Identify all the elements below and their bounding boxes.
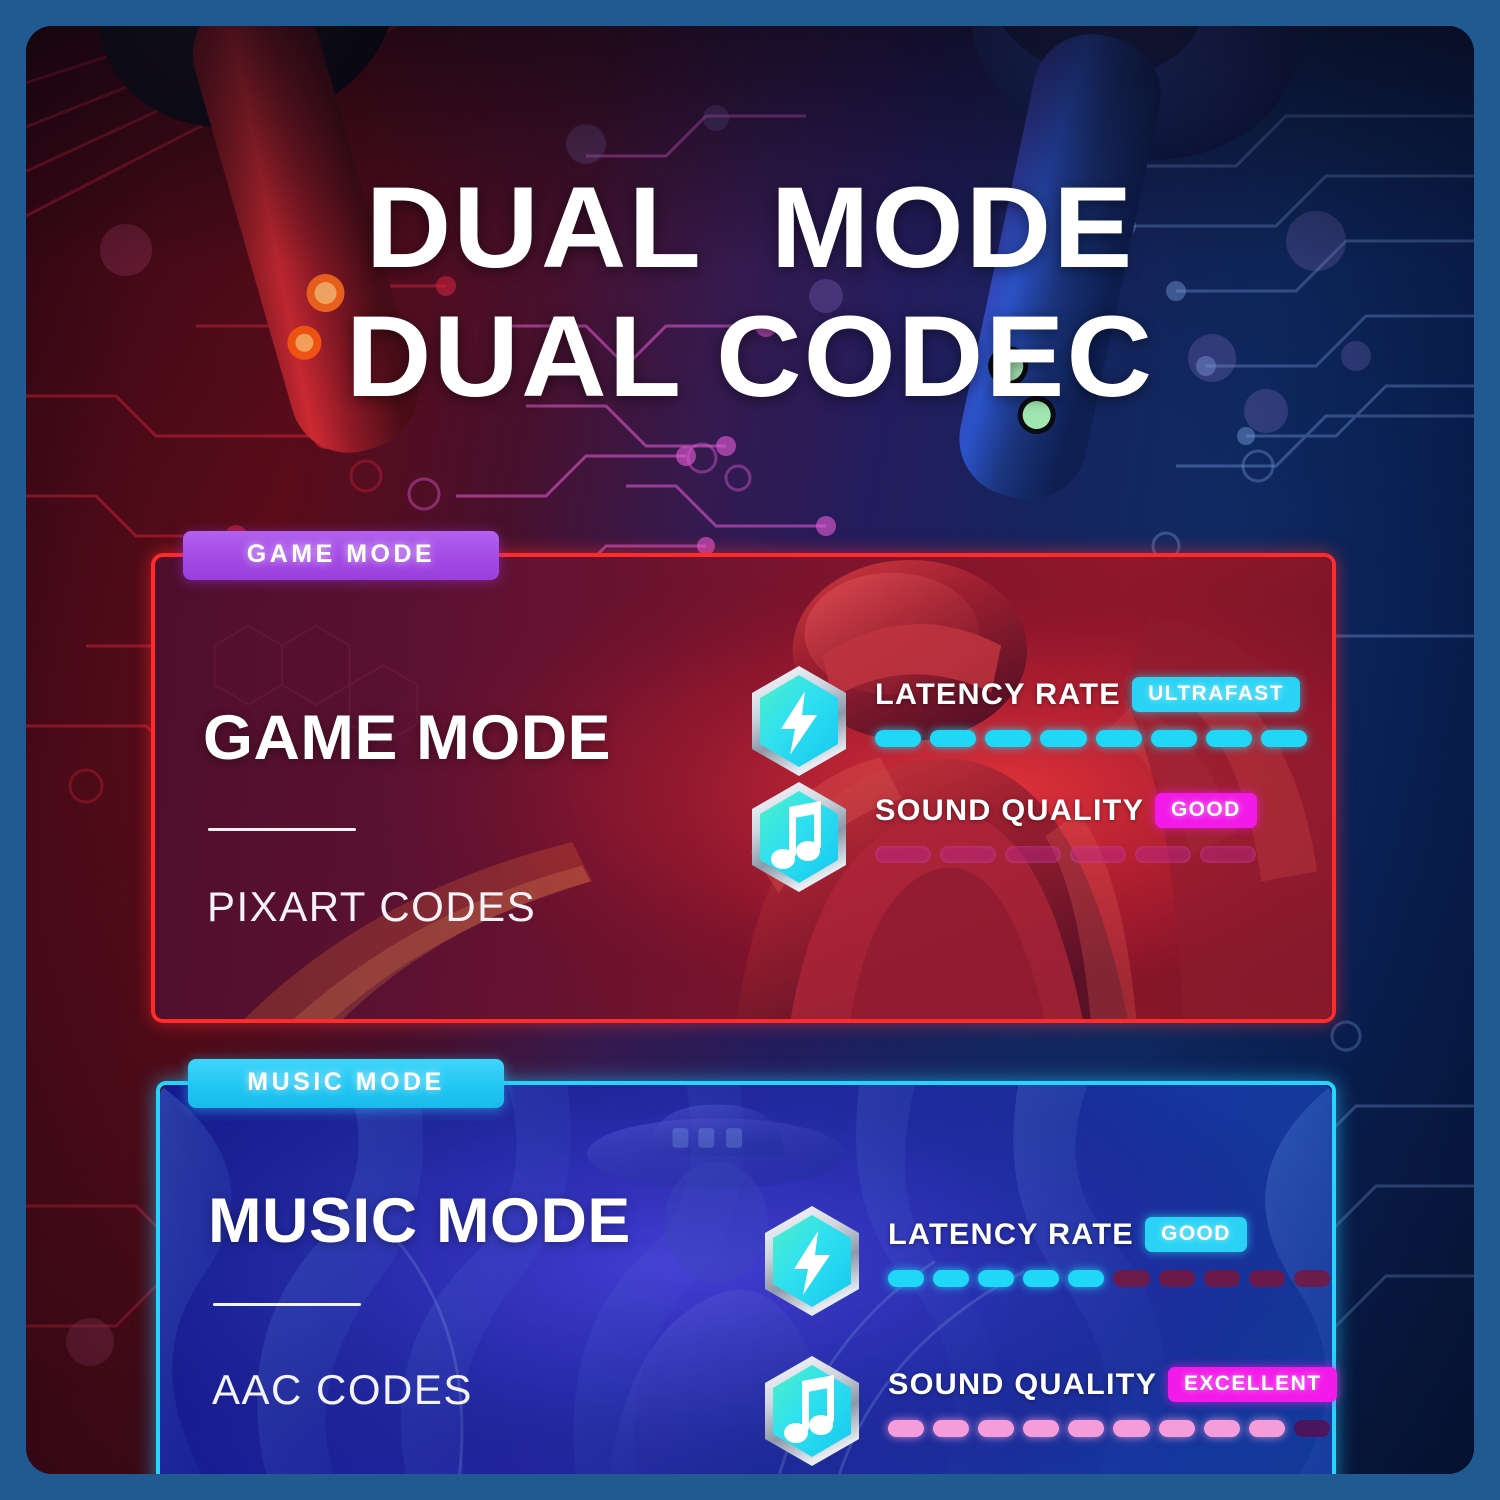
game-latency-bar	[875, 730, 1307, 747]
music-mode-tab-label: MUSIC MODE	[247, 1068, 445, 1096]
meter-segment	[1151, 730, 1197, 747]
music-mode-title: MUSIC MODE	[208, 1190, 631, 1253]
meter-segment	[1068, 1420, 1104, 1437]
game-latency-label: LATENCY RATE	[875, 678, 1121, 712]
music-sound-label: SOUND QUALITY	[888, 1368, 1157, 1402]
game-sound-head: SOUND QUALITY GOOD	[875, 793, 1307, 828]
music-latency-row: LATENCY RATE GOOD	[760, 1203, 1330, 1353]
meter-segment	[1005, 846, 1061, 863]
meter-segment	[1204, 1270, 1240, 1287]
game-sound-bar	[875, 846, 1307, 863]
meter-segment	[933, 1420, 969, 1437]
game-latency-head: LATENCY RATE ULTRAFAST	[875, 677, 1307, 712]
music-latency-label: LATENCY RATE	[888, 1218, 1134, 1252]
music-sound-head: SOUND QUALITY EXCELLENT	[888, 1367, 1330, 1402]
music-codec-label: AAC CODES	[212, 1366, 623, 1414]
game-sound-label: SOUND QUALITY	[875, 794, 1144, 828]
game-latency-status-badge: ULTRAFAST	[1132, 677, 1300, 712]
meter-segment	[1294, 1420, 1330, 1437]
meter-segment	[1096, 730, 1142, 747]
music-metrics-list: LATENCY RATE GOOD	[760, 1203, 1330, 1474]
music-latency-head: LATENCY RATE GOOD	[888, 1217, 1330, 1252]
game-sound-row: SOUND QUALITY GOOD	[747, 779, 1307, 895]
meter-segment	[1040, 730, 1086, 747]
meter-segment	[875, 846, 931, 863]
meter-segment	[1200, 846, 1256, 863]
page-title: DUAL MODE DUAL CODEC	[26, 164, 1474, 422]
meter-segment	[1249, 1420, 1285, 1437]
lightning-icon	[760, 1203, 864, 1319]
game-latency-row: LATENCY RATE ULTRAFAST	[747, 663, 1307, 779]
music-sound-bar	[888, 1420, 1330, 1437]
music-latency-content: LATENCY RATE GOOD	[888, 1217, 1330, 1287]
meter-segment	[1070, 846, 1126, 863]
meter-segment	[1159, 1420, 1195, 1437]
game-codec-label: PIXART CODES	[207, 883, 603, 931]
meter-segment	[1261, 730, 1307, 747]
meter-segment	[1294, 1270, 1330, 1287]
meter-segment	[978, 1270, 1014, 1287]
game-sound-content: SOUND QUALITY GOOD	[875, 793, 1307, 863]
game-metrics-list: LATENCY RATE ULTRAFAST	[747, 663, 1307, 895]
music-note-icon	[747, 779, 851, 895]
lightning-icon	[747, 663, 851, 779]
meter-segment	[1023, 1270, 1059, 1287]
meter-segment	[1159, 1270, 1195, 1287]
music-mode-panel[interactable]: MUSIC MODE MUSIC MODE AAC CODES	[156, 1081, 1336, 1474]
meter-segment	[875, 730, 921, 747]
game-mode-tab[interactable]: GAME MODE	[183, 531, 499, 580]
meter-segment	[1068, 1270, 1104, 1287]
meter-segment	[1206, 730, 1252, 747]
meter-segment	[1135, 846, 1191, 863]
game-mode-text-block: GAME MODE PIXART CODES	[203, 707, 603, 931]
meter-segment	[930, 730, 976, 747]
game-mode-title: GAME MODE	[203, 707, 611, 770]
headline-line-1: DUAL MODE	[26, 164, 1474, 293]
meter-segment	[1204, 1420, 1240, 1437]
music-latency-status-badge: GOOD	[1145, 1217, 1247, 1252]
music-latency-bar	[888, 1270, 1330, 1287]
meter-segment	[1113, 1270, 1149, 1287]
outer-frame: DUAL MODE DUAL CODEC	[0, 0, 1500, 1500]
meter-segment	[1113, 1420, 1149, 1437]
meter-segment	[1023, 1420, 1059, 1437]
game-mode-tab-label: GAME MODE	[247, 540, 435, 568]
meter-segment	[1249, 1270, 1285, 1287]
music-mode-tab[interactable]: MUSIC MODE	[188, 1059, 504, 1108]
meter-segment	[933, 1270, 969, 1287]
game-sound-status-badge: GOOD	[1155, 793, 1257, 828]
music-mode-text-block: MUSIC MODE AAC CODES	[208, 1190, 623, 1414]
meter-segment	[978, 1420, 1014, 1437]
music-sound-content: SOUND QUALITY EXCELLENT	[888, 1367, 1330, 1437]
meter-segment	[888, 1420, 924, 1437]
music-sound-row: SOUND QUALITY EXCELLENT	[760, 1353, 1330, 1474]
meter-segment	[888, 1270, 924, 1287]
game-divider-rule	[208, 828, 356, 831]
game-latency-content: LATENCY RATE ULTRAFAST	[875, 677, 1307, 747]
music-note-icon	[760, 1353, 864, 1469]
headline-line-2: DUAL CODEC	[26, 293, 1474, 422]
poster-stage: DUAL MODE DUAL CODEC	[26, 26, 1474, 1474]
meter-segment	[940, 846, 996, 863]
music-sound-status-badge: EXCELLENT	[1168, 1367, 1337, 1402]
game-mode-panel[interactable]: GAME MODE GAME MODE PIXART CODES	[151, 553, 1336, 1023]
music-divider-rule	[213, 1303, 361, 1306]
meter-segment	[985, 730, 1031, 747]
